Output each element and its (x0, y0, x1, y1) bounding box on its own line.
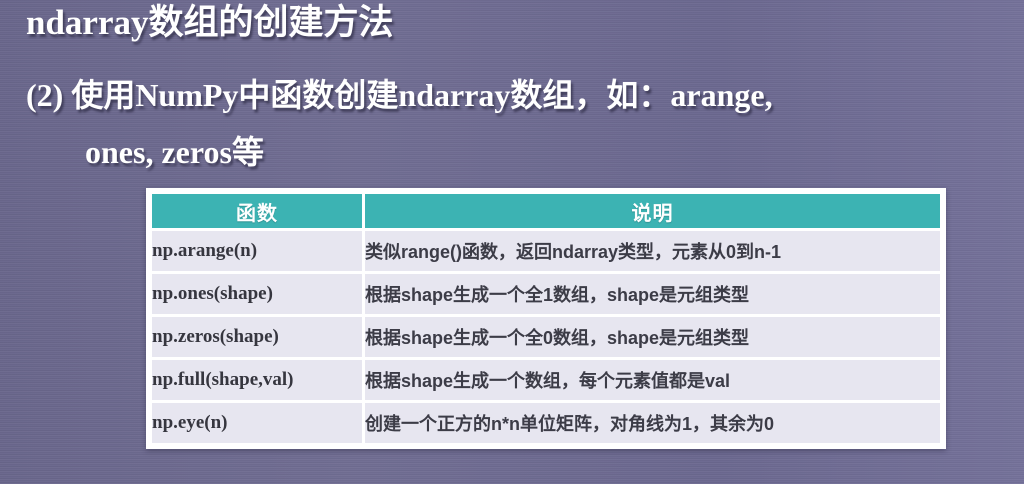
cell-function-description: 根据shape生成一个数组，每个元素值都是val (365, 360, 940, 400)
cell-function-description: 创建一个正方的n*n单位矩阵，对角线为1，其余为0 (365, 403, 940, 443)
table-header: 函数 说明 (152, 194, 940, 228)
slide-canvas: ndarray数组的创建方法 (2) 使用NumPy中函数创建ndarray数组… (0, 0, 1024, 484)
table-row: np.zeros(shape) 根据shape生成一个全0数组，shape是元组… (152, 317, 940, 357)
table-header-row: 函数 说明 (152, 194, 940, 228)
cell-function-description: 类似range()函数，返回ndarray类型，元素从0到n-1 (365, 231, 940, 271)
subtitle-line-1: (2) 使用NumPy中函数创建ndarray数组，如：arange, (26, 74, 773, 116)
table-row: np.ones(shape) 根据shape生成一个全1数组，shape是元组类… (152, 274, 940, 314)
cell-function-name: np.arange(n) (152, 231, 362, 271)
page-title: ndarray数组的创建方法 (26, 2, 394, 44)
cell-function-description: 根据shape生成一个全1数组，shape是元组类型 (365, 274, 940, 314)
cell-function-name: np.zeros(shape) (152, 317, 362, 357)
table-row: np.arange(n) 类似range()函数，返回ndarray类型，元素从… (152, 231, 940, 271)
table-row: np.eye(n) 创建一个正方的n*n单位矩阵，对角线为1，其余为0 (152, 403, 940, 443)
table-body: np.arange(n) 类似range()函数，返回ndarray类型，元素从… (152, 231, 940, 443)
functions-table: 函数 说明 np.arange(n) 类似range()函数，返回ndarray… (146, 188, 946, 449)
column-header-function: 函数 (152, 194, 362, 228)
cell-function-description: 根据shape生成一个全0数组，shape是元组类型 (365, 317, 940, 357)
cell-function-name: np.ones(shape) (152, 274, 362, 314)
cell-function-name: np.eye(n) (152, 403, 362, 443)
cell-function-name: np.full(shape,val) (152, 360, 362, 400)
subtitle-line-2: ones, zeros等 (85, 131, 264, 173)
column-header-description: 说明 (365, 194, 940, 228)
functions-table-grid: 函数 说明 np.arange(n) 类似range()函数，返回ndarray… (149, 191, 943, 446)
table-row: np.full(shape,val) 根据shape生成一个数组，每个元素值都是… (152, 360, 940, 400)
